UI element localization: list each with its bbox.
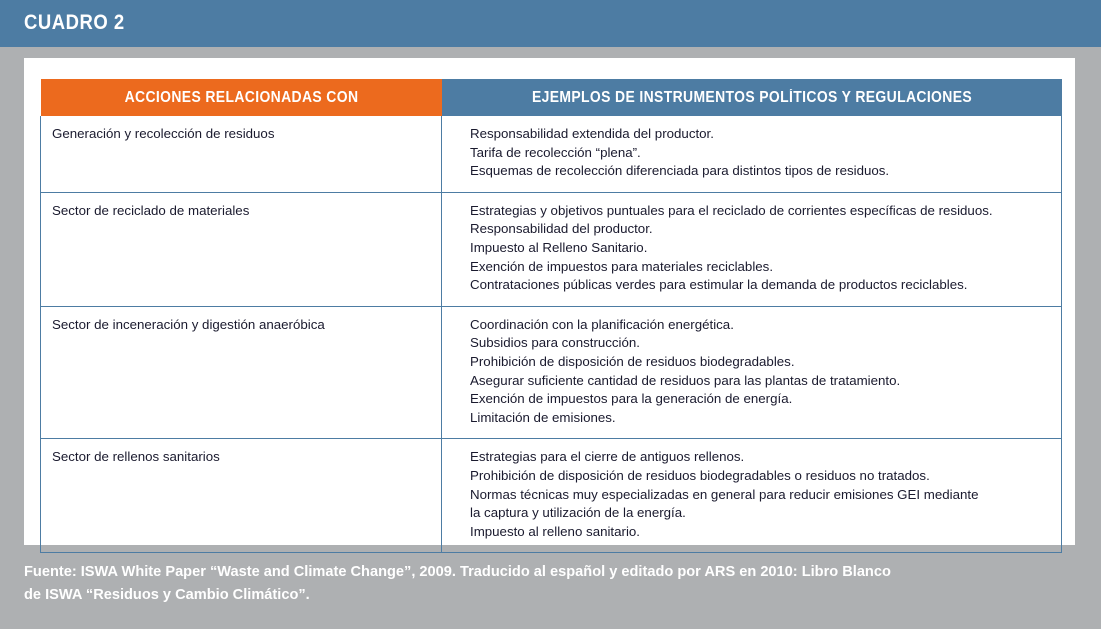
list-item: Estrategias para el cierre de antiguos r…: [470, 448, 1051, 467]
page-title: CUADRO 2: [24, 11, 125, 35]
source-note: Fuente: ISWA White Paper “Waste and Clim…: [24, 561, 1069, 607]
list-item: Impuesto al relleno sanitario.: [470, 523, 1051, 542]
cell-action: Generación y recolección de residuos: [41, 116, 442, 192]
column-header-examples: EJEMPLOS DE INSTRUMENTOS POLÍTICOS Y REG…: [442, 79, 1062, 116]
top-banner: CUADRO 2: [0, 0, 1101, 47]
table-row: Sector de rellenos sanitarios Estrategia…: [41, 439, 1062, 553]
examples-list: Estrategias para el cierre de antiguos r…: [470, 448, 1051, 541]
table-row: Sector de reciclado de materiales Estrat…: [41, 192, 1062, 306]
list-item: Esquemas de recolección diferenciada par…: [470, 162, 1051, 181]
content-panel: ACCIONES RELACIONADAS CON EJEMPLOS DE IN…: [24, 58, 1075, 545]
list-item: Prohibición de disposición de residuos b…: [470, 467, 1051, 486]
table-header-row: ACCIONES RELACIONADAS CON EJEMPLOS DE IN…: [41, 79, 1062, 116]
cell-examples: Coordinación con la planificación energé…: [442, 306, 1062, 439]
list-item: Prohibición de disposición de residuos b…: [470, 353, 1051, 372]
list-item: Tarifa de recolección “plena”.: [470, 144, 1051, 163]
list-item: Coordinación con la planificación energé…: [470, 316, 1051, 335]
list-item: Exención de impuestos para materiales re…: [470, 258, 1051, 277]
list-item: Asegurar suficiente cantidad de residuos…: [470, 372, 1051, 391]
table-row: Generación y recolección de residuos Res…: [41, 116, 1062, 192]
cell-action: Sector de reciclado de materiales: [41, 192, 442, 306]
examples-list: Coordinación con la planificación energé…: [470, 316, 1051, 428]
list-item: Limitación de emisiones.: [470, 409, 1051, 428]
cell-examples: Responsabilidad extendida del productor.…: [442, 116, 1062, 192]
policy-instruments-table: ACCIONES RELACIONADAS CON EJEMPLOS DE IN…: [40, 79, 1062, 553]
list-item: Impuesto al Relleno Sanitario.: [470, 239, 1051, 258]
source-line-1: Fuente: ISWA White Paper “Waste and Clim…: [24, 561, 1069, 584]
list-item: Contrataciones públicas verdes para esti…: [470, 276, 1051, 295]
column-header-actions: ACCIONES RELACIONADAS CON: [41, 79, 442, 116]
cell-examples: Estrategias para el cierre de antiguos r…: [442, 439, 1062, 553]
table-row: Sector de inceneración y digestión anaer…: [41, 306, 1062, 439]
list-item: Normas técnicas muy especializadas en ge…: [470, 486, 1051, 505]
list-item: Responsabilidad del productor.: [470, 220, 1051, 239]
list-item: Responsabilidad extendida del productor.: [470, 125, 1051, 144]
cell-action: Sector de rellenos sanitarios: [41, 439, 442, 553]
examples-list: Estrategias y objetivos puntuales para e…: [470, 202, 1051, 295]
cell-action: Sector de inceneración y digestión anaer…: [41, 306, 442, 439]
cell-examples: Estrategias y objetivos puntuales para e…: [442, 192, 1062, 306]
list-item: Exención de impuestos para la generación…: [470, 390, 1051, 409]
list-item: Subsidios para construcción.: [470, 334, 1051, 353]
list-item: la captura y utilización de la energía.: [470, 504, 1051, 523]
examples-list: Responsabilidad extendida del productor.…: [470, 125, 1051, 181]
page-root: CUADRO 2 ACCIONES RELACIONADAS CON EJEMP…: [0, 0, 1101, 629]
source-line-2: de ISWA “Residuos y Cambio Climático”.: [24, 584, 1069, 607]
list-item: Estrategias y objetivos puntuales para e…: [470, 202, 1051, 221]
